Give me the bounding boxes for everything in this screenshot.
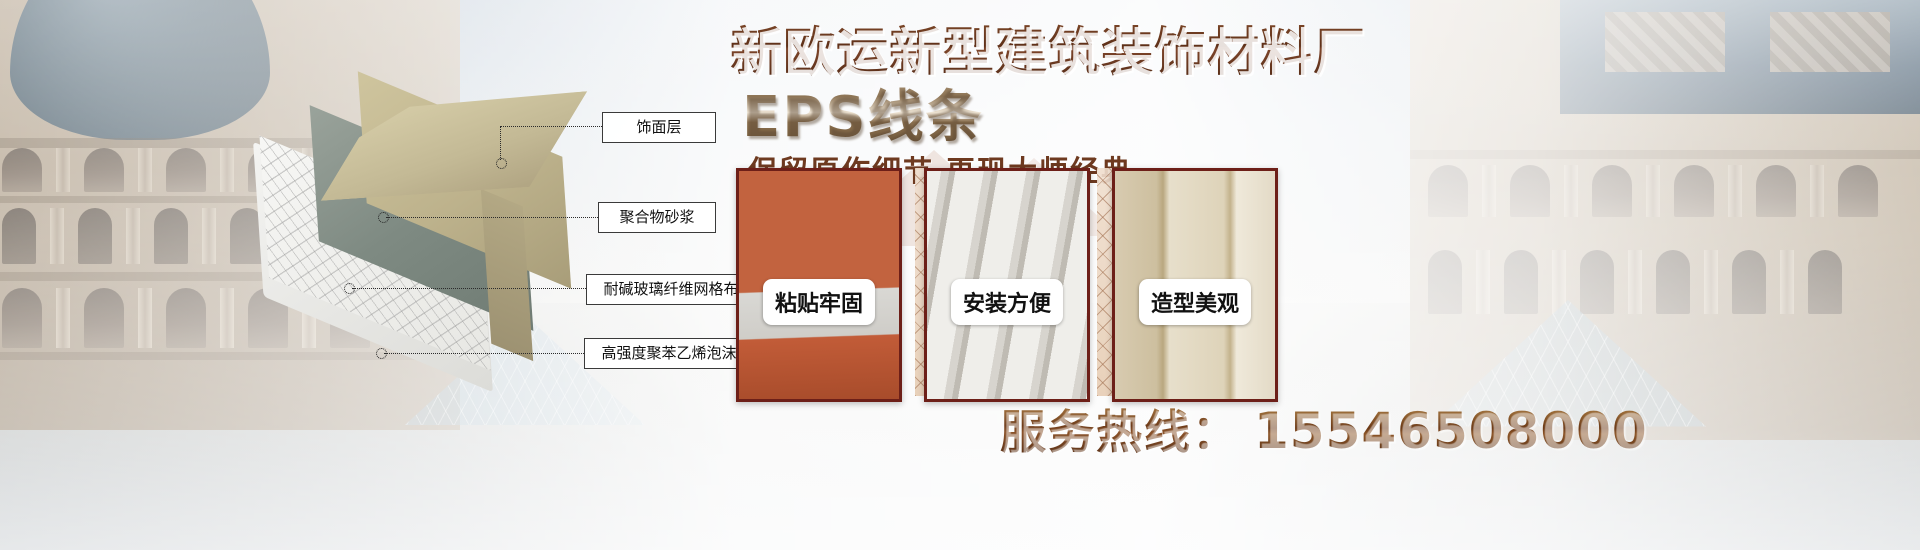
callout-leader-v-1: [500, 126, 501, 160]
callout-leader-2: [386, 217, 598, 218]
callout-label-finish-coat: 饰面层: [602, 112, 716, 143]
feature-badge: 粘贴牢固: [763, 279, 875, 325]
callout-leader-3: [352, 288, 586, 289]
callout-label-polymer-mortar: 聚合物砂浆: [598, 202, 716, 233]
feature-card[interactable]: 粘贴牢固: [736, 168, 902, 402]
eps-product-banner: 饰面层 聚合物砂浆 耐碱玻璃纤维网格布 高强度聚苯乙烯泡沫 新欧运新型建筑装饰材…: [0, 0, 1920, 550]
feature-badge: 造型美观: [1139, 279, 1251, 325]
layered-block: [250, 80, 590, 400]
feature-card-list: 粘贴牢固 安装方便 造型美观: [736, 168, 1278, 402]
eps-cross-section-diagram: [250, 80, 590, 400]
product-title: EPS线条: [742, 72, 984, 153]
callout-leader-4: [384, 353, 584, 354]
feature-badge: 安装方便: [951, 279, 1063, 325]
feature-card[interactable]: 造型美观: [1112, 168, 1278, 402]
hotline-label: 服务热线：: [1000, 396, 1240, 462]
callout-leader-1: [500, 126, 602, 127]
hotline-bar: 服务热线： 15546508000: [1000, 396, 1648, 462]
feature-card[interactable]: 安装方便: [924, 168, 1090, 402]
callout-marker-1: [496, 158, 507, 169]
promo-panel: 新欧运新型建筑装饰材料厂 EPS线条 保留原作细节 再现大师经典 粘贴牢固 安装…: [700, 0, 1580, 550]
hotline-number[interactable]: 15546508000: [1254, 402, 1648, 460]
